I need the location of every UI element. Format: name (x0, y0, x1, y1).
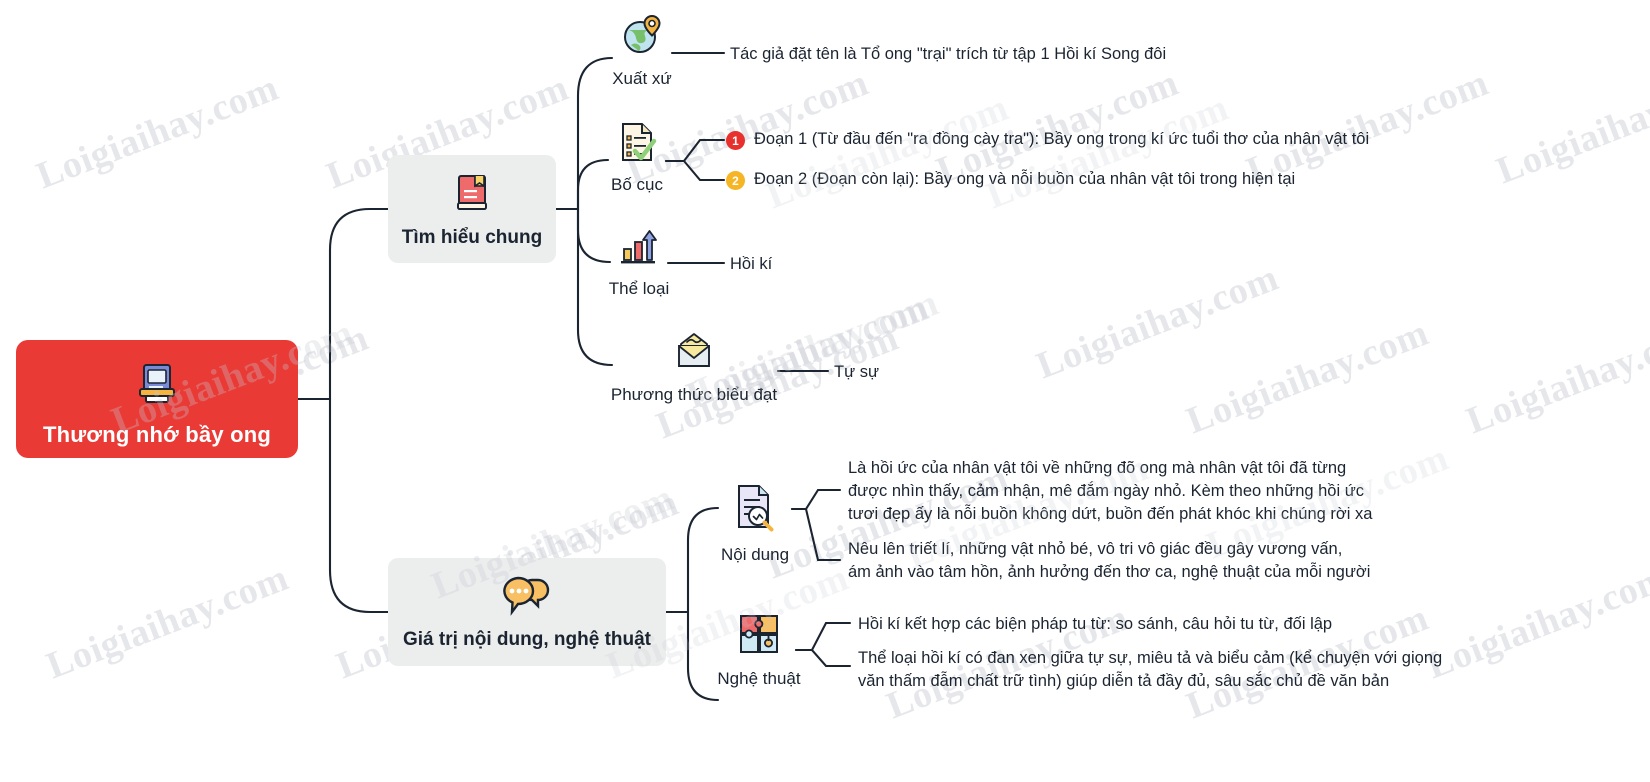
leaf-caption: Nội dung (721, 545, 789, 565)
leaf-node-nghe-thuat[interactable]: Nghệ thuật (716, 610, 802, 689)
globe-pin-icon (619, 12, 665, 63)
open-envelope-icon (669, 330, 719, 379)
leaf-caption: Phương thức biểu đạt (611, 385, 777, 405)
branch-label: Giá trị nội dung, nghệ thuật (403, 629, 651, 651)
watermark: Loigiaihay.com (1181, 311, 1435, 443)
number-badge: 1 (726, 131, 745, 150)
numbered-item-2: 2 Đoạn 2 (Đoạn còn lại): Bầy ong và nỗi … (726, 169, 1295, 190)
watermark: Loigiaihay.com (31, 66, 285, 198)
leaf-caption: Thể loại (609, 279, 669, 299)
detail-text-nghe-thuat-2: Thể loại hồi kí có đan xen giữa tự sự, m… (858, 647, 1442, 693)
speech-bubbles-icon (500, 574, 554, 623)
watermark: Loigiaihay.com (761, 86, 1015, 218)
watermark: Loigiaihay.com (41, 556, 295, 688)
puzzle-pieces-icon (735, 610, 783, 663)
root-node[interactable]: Thương nhớ bầy ong (16, 340, 298, 458)
book-stand-icon (131, 357, 183, 414)
detail-text-noi-dung-2: Nêu lên triết lí, những vật nhỏ bé, vô t… (848, 538, 1370, 584)
detail-text-the-loai: Hồi kí (730, 253, 772, 276)
numbered-text: Đoạn 2 (Đoạn còn lại): Bầy ong và nỗi bu… (754, 169, 1295, 190)
watermark: Loigiaihay.com (1421, 556, 1650, 688)
document-search-icon (731, 482, 779, 539)
leaf-node-xuat-xu[interactable]: Xuất xứ (612, 12, 672, 89)
detail-text-phuong-thuc: Tự sự (834, 361, 879, 384)
watermark: Loigiaihay.com (1461, 311, 1650, 443)
branch-label: Tìm hiểu chung (402, 227, 542, 249)
watermark: Loigiaihay.com (1491, 61, 1650, 193)
leaf-node-noi-dung[interactable]: Nội dung (718, 482, 792, 565)
leaf-caption: Nghệ thuật (717, 669, 800, 689)
branch-node-gia-tri[interactable]: Giá trị nội dung, nghệ thuật (388, 558, 666, 666)
numbered-text: Đoạn 1 (Từ đầu đến "ra đồng cày tra"): B… (754, 129, 1369, 150)
leaf-node-the-loai[interactable]: Thể loại (610, 228, 668, 299)
detail-text-nghe-thuat-1: Hồi kí kết hợp các biện pháp tu từ: so s… (858, 613, 1332, 636)
leaf-node-bo-cuc[interactable]: Bố cục (608, 120, 666, 195)
leaf-node-phuong-thuc-bieu-dat[interactable]: Phương thức biểu đạt (606, 330, 782, 405)
growth-bar-chart-icon (616, 228, 662, 273)
numbered-item-1: 1 Đoạn 1 (Từ đầu đến "ra đồng cày tra"):… (726, 129, 1369, 150)
leaf-caption: Bố cục (611, 175, 663, 195)
detail-text-xuat-xu: Tác giả đặt tên là Tổ ong "trại" trích t… (730, 43, 1166, 66)
branch-node-tim-hieu-chung[interactable]: Tìm hiểu chung (388, 155, 556, 263)
checklist-document-icon (615, 120, 659, 169)
leaf-caption: Xuất xứ (612, 69, 672, 89)
number-badge: 2 (726, 171, 745, 190)
root-title: Thương nhớ bầy ong (43, 422, 271, 448)
watermark: Loigiaihay.com (1031, 256, 1285, 388)
detail-text-noi-dung-1: Là hồi ức của nhân vật tôi về những đõ o… (848, 457, 1372, 526)
watermark: Loigiaihay.com (981, 86, 1235, 218)
red-book-icon (449, 170, 495, 221)
